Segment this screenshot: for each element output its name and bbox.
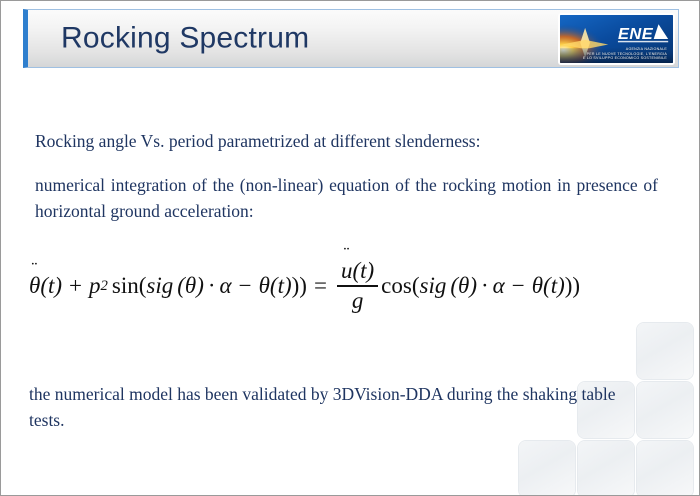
theta-symbol-lhs-2: θ xyxy=(259,273,270,299)
sig-open-paren-lhs: ( xyxy=(177,273,185,299)
sin-function: sin( xyxy=(112,273,147,299)
dot-operator-lhs: · xyxy=(208,273,216,299)
enea-logo-tagline: AGENZIA NAZIONALE PER LE NUOVE TECNOLOGI… xyxy=(560,47,671,61)
slide-canvas: Rocking Spectrum xyxy=(0,0,700,496)
theta-argument-lhs-2: (t) xyxy=(270,273,292,299)
alpha-symbol-rhs: α xyxy=(493,273,505,299)
minus-operator-lhs: − xyxy=(239,273,252,299)
intro-paragraph: Rocking angle Vs. period parametrized at… xyxy=(35,128,655,154)
rocking-equation: ¨ θ (t)+p2sin(sig(θ)·α−θ(t))) = ¨ u (t) … xyxy=(29,258,649,314)
dot-operator-rhs: · xyxy=(481,273,489,299)
u-argument: (t) xyxy=(352,258,374,283)
sig-function-rhs: sig xyxy=(420,273,447,299)
theta-argument-rhs-2: (t) xyxy=(543,273,565,299)
p-symbol: p xyxy=(89,273,101,299)
sig-theta-rhs: θ xyxy=(458,273,469,299)
theta-double-dot: ¨ θ xyxy=(29,273,40,299)
svg-text:ENE: ENE xyxy=(618,25,654,43)
theta-argument: (t) xyxy=(40,273,62,299)
lhs-close-parens: )) xyxy=(292,273,307,299)
acceleration-ratio-fraction: ¨ u (t) g xyxy=(337,258,378,314)
theta-symbol-rhs-2: θ xyxy=(532,273,543,299)
equals-sign: = xyxy=(314,273,327,299)
equation-lhs: ¨ θ (t)+p2sin(sig(θ)·α−θ(t))) xyxy=(29,273,307,299)
fraction-numerator: ¨ u (t) xyxy=(337,258,378,285)
alpha-symbol-lhs: α xyxy=(220,273,232,299)
minus-operator-rhs: − xyxy=(512,273,525,299)
page-title: Rocking Spectrum xyxy=(61,21,309,55)
slide-body: Rocking angle Vs. period parametrized at… xyxy=(1,68,700,496)
cos-function: cos( xyxy=(381,273,419,299)
sig-theta-lhs: θ xyxy=(185,273,196,299)
enea-tagline-line-3: E LO SVILUPPO ECONOMICO SOSTENIBILE xyxy=(560,56,667,61)
slide-title-bar: Rocking Spectrum xyxy=(23,9,679,68)
double-dot-accent-u: ¨ xyxy=(343,245,349,263)
enea-logo: ENE AGENZIA NAZIONALE PER LE NUOVE TECNO… xyxy=(558,13,675,65)
validation-paragraph: the numerical model has been validated b… xyxy=(29,381,639,433)
fraction-denominator: g xyxy=(348,287,368,314)
p-exponent: 2 xyxy=(101,278,108,295)
sig-open-paren-rhs: ( xyxy=(450,273,458,299)
sig-close-paren-lhs: ) xyxy=(196,273,204,299)
equation-rhs: cos(sig(θ)·α−θ(t))) xyxy=(381,273,580,299)
u-double-dot: ¨ u xyxy=(341,258,353,284)
sig-function-lhs: sig xyxy=(146,273,173,299)
double-dot-accent: ¨ xyxy=(31,260,37,278)
method-paragraph: numerical integration of the (non-linear… xyxy=(35,172,658,224)
rhs-close-parens: )) xyxy=(565,273,580,299)
sig-close-paren-rhs: ) xyxy=(469,273,477,299)
plus-operator: + xyxy=(69,273,82,299)
